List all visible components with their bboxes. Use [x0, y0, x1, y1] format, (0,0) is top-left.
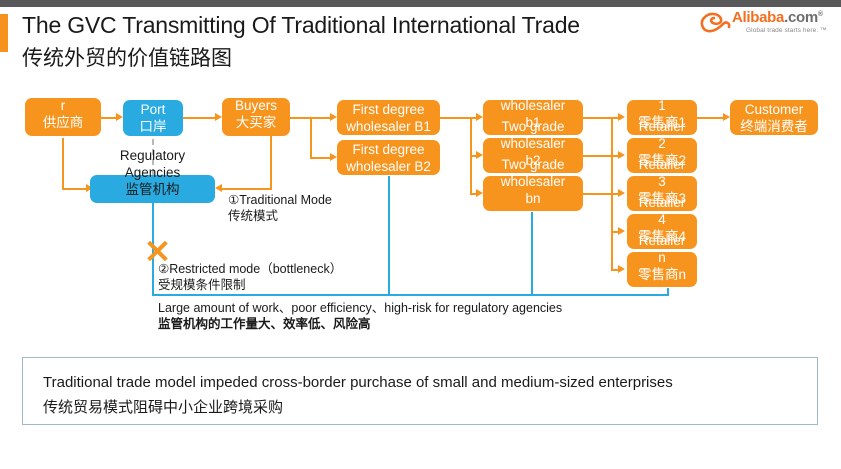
connector-tg3-retailbus	[583, 193, 613, 195]
node-regulatory-en2: Agencies	[125, 164, 181, 181]
arrow-retailer-customer	[723, 113, 730, 121]
connector-supplier-port	[100, 117, 116, 119]
annotation-issue-zh: 监管机构的工作量大、效率低、风险高	[158, 316, 562, 332]
page-title-en: The GVC Transmitting Of Traditional Inte…	[22, 12, 580, 39]
annotation-restricted-mode-en: ②Restricted mode（bottleneck）	[158, 262, 342, 276]
connector-bigbuyers-b2-horz	[310, 157, 330, 159]
connector-tg2-retailbus	[583, 155, 613, 157]
node-customer-en: Customer	[745, 101, 804, 118]
arrow-bigbuyers-b2	[330, 153, 337, 161]
node-retailer-n-line1: Retailer	[639, 232, 686, 249]
node-regulatory-agencies[interactable]: Regulatory Agencies 监管机构	[90, 175, 215, 203]
node-big-buyers-en: Big	[246, 80, 266, 97]
bottleneck-line-base	[152, 294, 669, 296]
annotation-issue-en: Large amount of work、poor efficiency、hig…	[158, 301, 562, 315]
logo-registered-mark: ®	[818, 11, 823, 18]
connector-bigbuyers-regulatory-horz	[222, 188, 272, 190]
connector-bigbuyers-b2-vert	[310, 117, 312, 158]
arrow-bus-tg2	[476, 151, 483, 159]
node-retailer-3-line1: Retailer	[639, 156, 686, 173]
annotation-restricted-mode: ②Restricted mode（bottleneck） 受规模条件限制	[158, 261, 342, 293]
arrow-bus-r3	[618, 189, 625, 197]
conclusion-text-en: Traditional trade model impeded cross-bo…	[43, 374, 673, 391]
connector-supplier-regulatory-horz	[62, 188, 86, 190]
conclusion-text-zh: 传统贸易模式阻碍中小企业跨境采购	[43, 396, 283, 417]
node-retailer-n-line2: n	[658, 249, 666, 266]
node-retailer-n[interactable]: Retailer n 零售商n	[627, 252, 697, 287]
title-accent-bar	[0, 14, 8, 52]
node-two-grade-b1-line2: wholesaler	[501, 97, 566, 114]
arrow-bus-tg1	[476, 113, 483, 121]
arrow-bus-r2	[618, 151, 625, 159]
logo-wordmark: Alibaba.com®	[732, 9, 823, 26]
node-first-degree-b1-line2: wholesaler B1	[346, 118, 431, 135]
node-two-grade-b1-line1: Two grade	[501, 80, 564, 97]
connector-port-bigbuyers	[183, 117, 215, 119]
node-two-grade-b2-line2: wholesaler	[501, 135, 566, 152]
node-first-degree-b1-line1: First degree	[352, 101, 424, 118]
conclusion-box: Traditional trade model impeded cross-bo…	[22, 357, 818, 425]
node-two-grade-bn[interactable]: Two grade wholesaler bn	[483, 176, 583, 211]
arrow-bus-rn	[618, 265, 625, 273]
node-retailer-2-line2: 2	[658, 135, 666, 152]
node-first-degree-b1[interactable]: First degree wholesaler B1	[337, 100, 440, 135]
node-retailer-3-line2: 3	[658, 173, 666, 190]
node-big-buyers[interactable]: Big Buyers 大买家	[222, 98, 290, 136]
logo-word-dotcom: .com	[784, 9, 818, 26]
node-retailer-1-line2: 1	[658, 97, 666, 114]
node-port-zh: 口岸	[140, 118, 167, 135]
node-supplier-en: Supplie	[40, 80, 85, 97]
node-retailer-4-line2: 4	[658, 211, 666, 228]
alibaba-logo: Alibaba.com® Global trade starts here. ™	[700, 8, 832, 42]
connector-tg1-retailbus	[583, 117, 613, 119]
arrow-regulatory-in	[215, 184, 222, 192]
node-retailer-1-line1: Retailer	[639, 80, 686, 97]
node-regulatory-zh: 监管机构	[126, 181, 180, 198]
alibaba-mark-icon	[700, 11, 734, 37]
annotation-restricted-mode-zh: 受规模条件限制	[158, 277, 342, 293]
page-title-zh: 传统外贸的价值链路图	[22, 42, 232, 72]
node-first-degree-b2[interactable]: First degree wholesaler B2	[337, 140, 440, 175]
node-two-grade-bn-line1: Two grade	[501, 156, 564, 173]
connector-supplier-regulatory-vert	[62, 138, 64, 190]
node-customer[interactable]: Customer 终端消费者	[730, 100, 818, 135]
node-big-buyers-zh: 大买家	[236, 114, 277, 131]
node-retailer-4-line1: Retailer	[639, 194, 686, 211]
annotation-traditional-mode-zh: 传统模式	[228, 208, 332, 224]
logo-word-alibaba: Alibaba	[732, 9, 784, 26]
slide-canvas: The GVC Transmitting Of Traditional Inte…	[0, 0, 841, 469]
node-regulatory-en: Regulatory	[120, 147, 185, 164]
node-port-en: Port	[141, 101, 166, 118]
node-first-degree-b2-line2: wholesaler B2	[346, 158, 431, 175]
bottleneck-line-firstdegree	[388, 176, 390, 296]
logo-tagline: Global trade starts here. ™	[746, 27, 827, 34]
arrow-port-bigbuyers	[215, 113, 222, 121]
node-customer-zh: 终端消费者	[740, 118, 808, 135]
node-two-grade-b2-line1: Two grade	[501, 118, 564, 135]
annotation-traditional-mode-en: ①Traditional Mode	[228, 193, 332, 207]
node-retailer-2-line1: Retailer	[639, 118, 686, 135]
connector-b1-bus	[440, 117, 472, 119]
connector-bigbuyers-regulatory-vert	[270, 135, 272, 189]
node-two-grade-bn-line3: bn	[525, 190, 540, 207]
annotation-traditional-mode: ①Traditional Mode 传统模式	[228, 192, 332, 224]
node-first-degree-b2-line1: First degree	[352, 141, 424, 158]
arrow-bigbuyers-b1	[330, 113, 337, 121]
bottleneck-line-twograde	[531, 212, 533, 296]
top-bar	[0, 0, 841, 7]
node-two-grade-bn-line2: wholesaler	[501, 173, 566, 190]
node-big-buyers-en2: Buyers	[235, 97, 277, 114]
arrow-bus-tg3	[476, 189, 483, 197]
node-retailer-n-line3: 零售商n	[638, 266, 686, 283]
node-supplier-zh: 供应商	[43, 114, 84, 131]
arrow-bus-r4	[618, 227, 625, 235]
connector-retailer-customer	[697, 117, 723, 119]
annotation-issue: Large amount of work、poor efficiency、hig…	[158, 300, 562, 332]
arrow-supplier-port	[116, 113, 123, 121]
arrow-bus-r1	[618, 113, 625, 121]
node-supplier-en2: r	[61, 97, 66, 114]
node-supplier[interactable]: Supplie r 供应商	[25, 98, 101, 136]
node-port[interactable]: Port 口岸	[123, 100, 183, 136]
